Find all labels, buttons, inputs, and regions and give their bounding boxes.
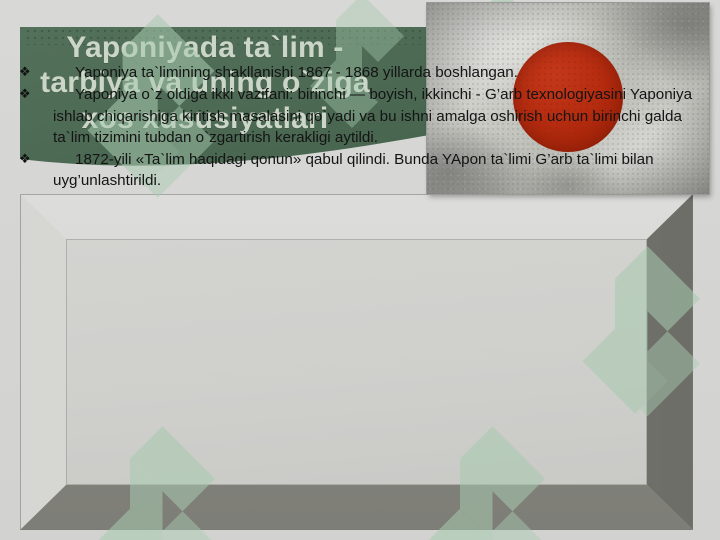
- content-panel: [66, 239, 647, 485]
- list-item: ❖ 1872-yili «Ta`lim haqidagi qonun» qabu…: [18, 149, 706, 192]
- list-item-text: 1872-yili «Ta`lim haqidagi qonun» qabul …: [53, 149, 706, 192]
- content-frame: [20, 194, 693, 530]
- title-banner-texture: [26, 29, 434, 45]
- bullet-diamond-icon: ❖: [18, 84, 53, 104]
- list-item: ❖ Yaponiya ta`limining shakllanishi 1867…: [18, 62, 706, 83]
- bullet-diamond-icon: ❖: [18, 62, 53, 82]
- list-item-text: Yaponiya ta`limining shakllanishi 1867 -…: [53, 62, 706, 83]
- bullet-list: ❖ Yaponiya ta`limining shakllanishi 1867…: [18, 62, 706, 193]
- presentation-slide: Yaponiyada ta`lim - tarbiya va uning o`z…: [0, 0, 720, 540]
- bullet-diamond-icon: ❖: [18, 149, 53, 169]
- list-item-text: Yaponiya o`z oldiga ikki vazifani: birin…: [53, 84, 706, 148]
- list-item: ❖ Yaponiya o`z oldiga ikki vazifani: bir…: [18, 84, 706, 148]
